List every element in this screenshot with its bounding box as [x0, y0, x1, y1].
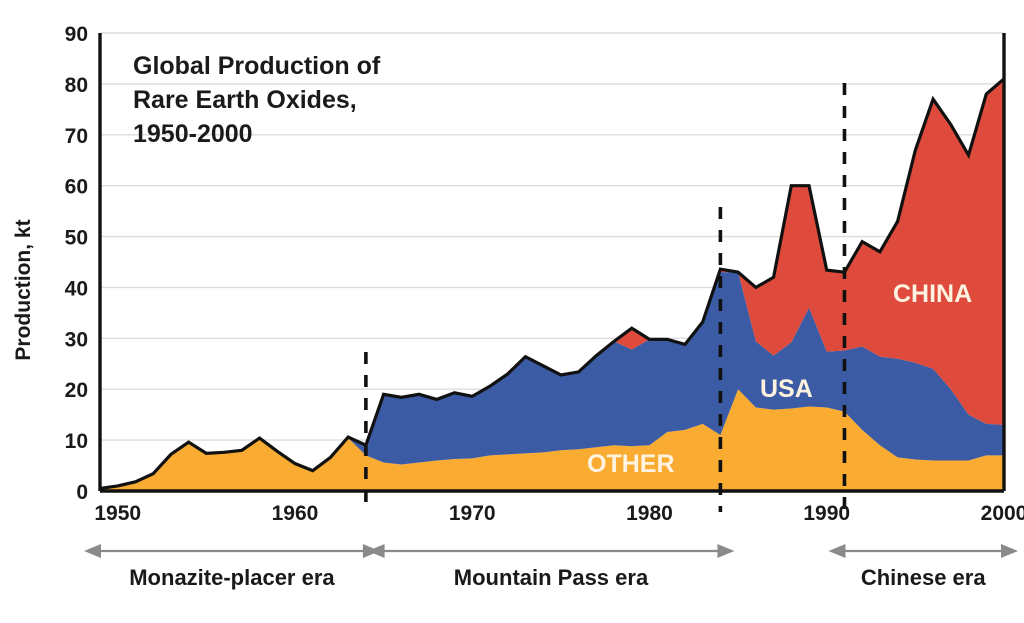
x-tick-label: 2000 [981, 502, 1024, 525]
y-tick-label: 90 [65, 23, 88, 46]
era-label: Mountain Pass era [454, 565, 649, 590]
rare-earth-production-chart: 0102030405060708090 19501960197019801990… [0, 0, 1024, 623]
y-tick-label: 70 [65, 125, 88, 148]
x-tick-label: 1980 [626, 502, 673, 525]
series-label-usa: USA [760, 375, 813, 403]
era-label: Monazite-placer era [129, 565, 335, 590]
chart-title-line-1: Global Production of [133, 52, 381, 80]
series-label-china: CHINA [893, 280, 972, 308]
x-tick-label: 1950 [94, 502, 141, 525]
y-tick-label: 30 [65, 328, 88, 351]
era-label: Chinese era [861, 565, 986, 590]
y-tick-label: 80 [65, 74, 88, 97]
y-tick-label: 20 [65, 379, 88, 402]
y-tick-label: 40 [65, 277, 88, 300]
x-tick-label: 1960 [272, 502, 319, 525]
series-label-other: OTHER [587, 450, 675, 478]
y-tick-label: 50 [65, 227, 88, 250]
x-tick-label: 1970 [449, 502, 496, 525]
y-tick-label: 0 [76, 481, 88, 504]
y-tick-label: 60 [65, 176, 88, 199]
x-tick-label: 1990 [803, 502, 850, 525]
y-tick-label: 10 [65, 430, 88, 453]
chart-title-line-3: 1950-2000 [133, 120, 253, 148]
y-axis-title: Production, kt [12, 219, 35, 360]
era-annotations: Monazite-placer eraMountain Pass eraChin… [84, 544, 1018, 590]
chart-title-line-2: Rare Earth Oxides, [133, 86, 357, 114]
